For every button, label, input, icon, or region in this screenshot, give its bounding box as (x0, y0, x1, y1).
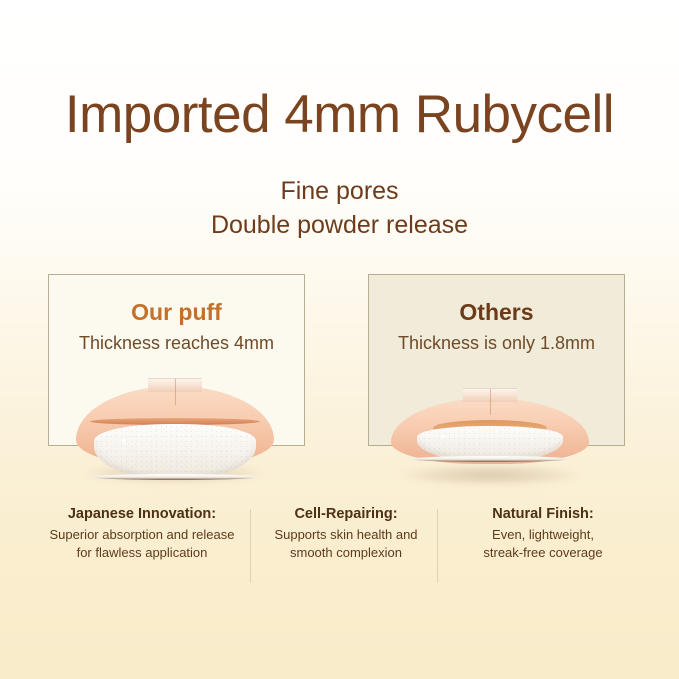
puff-ribbon-tab (463, 388, 517, 402)
feature-title: Japanese Innovation: (42, 505, 242, 523)
feature-description-line-1: Supports skin health and (262, 526, 430, 544)
feature-description-line-2: for flawless application (42, 544, 242, 562)
feature-divider (250, 509, 251, 583)
product-shadow (397, 464, 583, 486)
comparison-card-subtitle: Thickness reaches 4mm (49, 334, 304, 352)
feature-title: Cell-Repairing: (262, 505, 430, 523)
subtitle-line-1: Fine pores (0, 179, 679, 204)
product-image-thick-puff (70, 370, 280, 490)
feature-divider (437, 509, 438, 583)
product-infographic: Imported 4mm Rubycell Fine pores Double … (0, 0, 679, 679)
feature-description-line-2: streak-free coverage (448, 544, 638, 562)
page-title: Imported 4mm Rubycell (0, 88, 679, 141)
comparison-card-subtitle: Thickness is only 1.8mm (369, 334, 624, 352)
feature-list: Japanese Innovation: Superior absorption… (0, 505, 679, 595)
puff-base-edge (92, 474, 258, 480)
comparison-card-title: Our puff (49, 301, 304, 324)
comparison-card-title: Others (369, 301, 624, 324)
feature-description-line-1: Superior absorption and release (42, 526, 242, 544)
feature-item-japanese-innovation: Japanese Innovation: Superior absorption… (42, 505, 242, 562)
feature-item-natural-finish: Natural Finish: Even, lightweight, strea… (448, 505, 638, 562)
puff-base-edge (411, 456, 569, 462)
feature-item-cell-repairing: Cell-Repairing: Supports skin health and… (262, 505, 430, 562)
feature-title: Natural Finish: (448, 505, 638, 523)
subtitle-line-2: Double powder release (0, 213, 679, 238)
product-image-thin-puff (385, 372, 595, 492)
feature-description-line-1: Even, lightweight, (448, 526, 638, 544)
puff-ribbon-tab (148, 378, 202, 392)
feature-description-line-2: smooth complexion (262, 544, 430, 562)
